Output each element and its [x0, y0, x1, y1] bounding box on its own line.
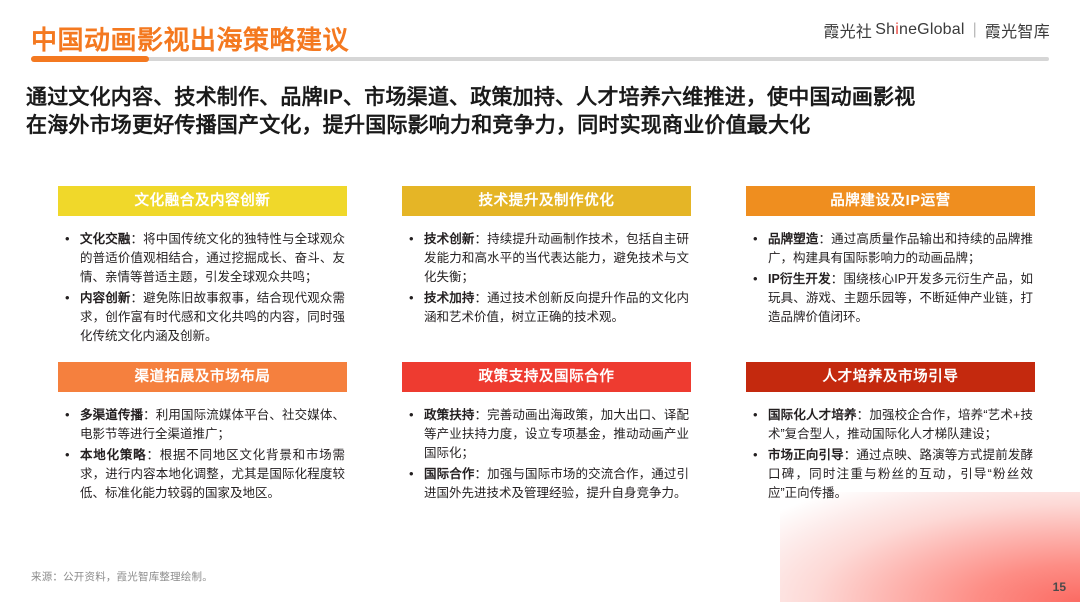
bullet-item: 品牌塑造：通过高质量作品输出和持续的品牌推广，构建具有国际影响力的动画品牌；: [752, 230, 1033, 268]
bullet-list: 多渠道传播：利用国际流媒体平台、社交媒体、电影节等进行全渠道推广；本地化策略：根…: [64, 406, 345, 503]
bullet-item: 技术加持：通过技术创新反向提升作品的文化内涵和艺术价值，树立正确的技术观。: [408, 289, 689, 327]
page-title: 中国动画影视出海策略建议: [31, 20, 349, 57]
bullet-item: 政策扶持：完善动画出海政策，加大出口、译配等产业扶持力度，设立专项基金，推动动画…: [408, 406, 689, 463]
bullet-term: 技术创新: [424, 232, 475, 246]
brand-divider: |: [973, 21, 977, 39]
bullet-term: IP衍生开发: [768, 272, 831, 286]
bullet-item: 文化交融：将中国传统文化的独特性与全球观众的普适价值观相结合，通过挖掘成长、奋斗…: [64, 230, 345, 287]
card-body: 文化交融：将中国传统文化的独特性与全球观众的普适价值观相结合，通过挖掘成长、奋斗…: [58, 216, 347, 346]
bullet-separator: ：: [131, 232, 144, 246]
bullet-item: 市场正向引导：通过点映、路演等方式提前发酵口碑，同时注重与粉丝的互动，引导“粉丝…: [752, 446, 1033, 503]
bullet-separator: ：: [831, 272, 844, 286]
bullet-separator: ：: [146, 448, 159, 462]
bullet-list: 品牌塑造：通过高质量作品输出和持续的品牌推广，构建具有国际影响力的动画品牌；IP…: [752, 230, 1033, 327]
bullet-term: 本地化策略: [80, 448, 146, 462]
brand-en-after: neGlobal: [899, 21, 965, 38]
strategy-card: 技术提升及制作优化技术创新：持续提升动画制作技术，包括自主研发能力和高水平的当代…: [402, 186, 691, 348]
card-body: 政策扶持：完善动画出海政策，加大出口、译配等产业扶持力度，设立专项基金，推动动画…: [402, 392, 691, 503]
brand-name-cn-right: 霞光智库: [985, 18, 1050, 42]
source-note: 来源：公开资料，霞光智库整理绘制。: [31, 569, 213, 584]
card-body: 品牌塑造：通过高质量作品输出和持续的品牌推广，构建具有国际影响力的动画品牌；IP…: [746, 216, 1035, 327]
bullet-separator: ：: [475, 467, 488, 481]
strategy-card-grid: 文化融合及内容创新文化交融：将中国传统文化的独特性与全球观众的普适价值观相结合，…: [58, 186, 1035, 505]
bullet-item: 内容创新：避免陈旧故事叙事，结合现代观众需求，创作富有时代感和文化共鸣的内容，同…: [64, 289, 345, 346]
bullet-list: 国际化人才培养：加强校企合作，培养“艺术+技术”复合型人，推动国际化人才梯队建设…: [752, 406, 1033, 503]
strategy-card: 政策支持及国际合作政策扶持：完善动画出海政策，加大出口、译配等产业扶持力度，设立…: [402, 362, 691, 505]
bullet-list: 政策扶持：完善动画出海政策，加大出口、译配等产业扶持力度，设立专项基金，推动动画…: [408, 406, 689, 503]
bullet-separator: ：: [475, 232, 488, 246]
slide-header: 中国动画影视出海策略建议 霞光社 ShineGlobal | 霞光智库: [0, 0, 1080, 78]
card-header: 政策支持及国际合作: [402, 362, 691, 392]
bullet-item: IP衍生开发：围绕核心IP开发多元衍生产品，如玩具、游戏、主题乐园等，不断延伸产…: [752, 270, 1033, 327]
bullet-list: 文化交融：将中国传统文化的独特性与全球观众的普适价值观相结合，通过挖掘成长、奋斗…: [64, 230, 345, 346]
card-body: 国际化人才培养：加强校企合作，培养“艺术+技术”复合型人，推动国际化人才梯队建设…: [746, 392, 1035, 503]
card-header: 品牌建设及IP运营: [746, 186, 1035, 216]
card-header: 人才培养及市场引导: [746, 362, 1035, 392]
bullet-item: 技术创新：持续提升动画制作技术，包括自主研发能力和高水平的当代表达能力，避免技术…: [408, 230, 689, 287]
brand-logo: 霞光社 ShineGlobal | 霞光智库: [823, 18, 1050, 42]
bullet-term: 内容创新: [80, 291, 131, 305]
strategy-card: 渠道拓展及市场布局多渠道传播：利用国际流媒体平台、社交媒体、电影节等进行全渠道推…: [58, 362, 347, 505]
bullet-term: 国际合作: [424, 467, 475, 481]
card-header: 技术提升及制作优化: [402, 186, 691, 216]
card-body: 技术创新：持续提升动画制作技术，包括自主研发能力和高水平的当代表达能力，避免技术…: [402, 216, 691, 327]
brand-en-before: Sh: [875, 21, 895, 38]
bullet-term: 政策扶持: [424, 408, 475, 422]
slide-subtitle: 通过文化内容、技术制作、品牌IP、市场渠道、政策加持、人才培养六维推进，使中国动…: [26, 84, 1056, 140]
title-divider-rule: [31, 57, 1049, 61]
bullet-separator: ：: [143, 408, 156, 422]
brand-name-en: ShineGlobal: [875, 21, 964, 39]
title-accent-bar: [31, 56, 149, 62]
strategy-card: 品牌建设及IP运营品牌塑造：通过高质量作品输出和持续的品牌推广，构建具有国际影响…: [746, 186, 1035, 348]
bullet-term: 品牌塑造: [768, 232, 819, 246]
brand-name-cn-left: 霞光社: [823, 18, 872, 42]
bullet-item: 国际化人才培养：加强校企合作，培养“艺术+技术”复合型人，推动国际化人才梯队建设…: [752, 406, 1033, 444]
subtitle-line-1: 通过文化内容、技术制作、品牌IP、市场渠道、政策加持、人才培养六维推进，使中国动…: [26, 84, 1056, 112]
bullet-separator: ：: [131, 291, 144, 305]
bullet-item: 多渠道传播：利用国际流媒体平台、社交媒体、电影节等进行全渠道推广；: [64, 406, 345, 444]
bullet-term: 文化交融: [80, 232, 131, 246]
bullet-term: 国际化人才培养: [768, 408, 857, 422]
bullet-separator: ：: [475, 408, 488, 422]
bullet-term: 多渠道传播: [80, 408, 143, 422]
bullet-separator: ：: [857, 408, 870, 422]
card-body: 多渠道传播：利用国际流媒体平台、社交媒体、电影节等进行全渠道推广；本地化策略：根…: [58, 392, 347, 503]
subtitle-line-2: 在海外市场更好传播国产文化，提升国际影响力和竞争力，同时实现商业价值最大化: [26, 112, 1056, 140]
bullet-separator: ：: [844, 448, 857, 462]
bullet-separator: ：: [819, 232, 832, 246]
bullet-item: 国际合作：加强与国际市场的交流合作，通过引进国外先进技术及管理经验，提升自身竞争…: [408, 465, 689, 503]
bullet-item: 本地化策略：根据不同地区文化背景和市场需求，进行内容本地化调整，尤其是国际化程度…: [64, 446, 345, 503]
page-number: 15: [1053, 580, 1066, 594]
bullet-term: 市场正向引导: [768, 448, 844, 462]
strategy-card: 文化融合及内容创新文化交融：将中国传统文化的独特性与全球观众的普适价值观相结合，…: [58, 186, 347, 348]
strategy-card: 人才培养及市场引导国际化人才培养：加强校企合作，培养“艺术+技术”复合型人，推动…: [746, 362, 1035, 505]
bullet-term: 技术加持: [424, 291, 475, 305]
card-header: 渠道拓展及市场布局: [58, 362, 347, 392]
bullet-separator: ：: [475, 291, 488, 305]
bullet-list: 技术创新：持续提升动画制作技术，包括自主研发能力和高水平的当代表达能力，避免技术…: [408, 230, 689, 327]
corner-gradient-decoration: [780, 492, 1080, 602]
card-header: 文化融合及内容创新: [58, 186, 347, 216]
